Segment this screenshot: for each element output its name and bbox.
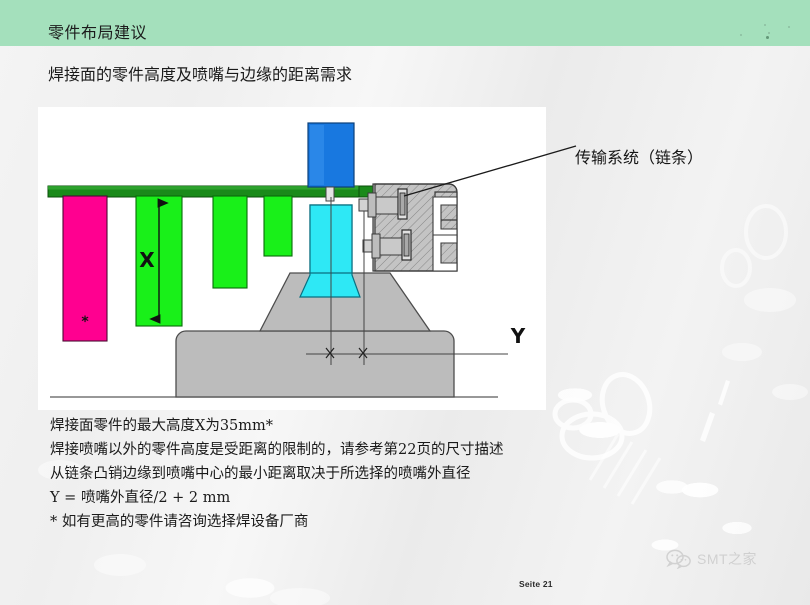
body-line-3: 从链条凸销边缘到喷嘴中心的最小距离取决于所选择的喷嘴外直径 [50, 462, 690, 486]
header-dot-artifacts [736, 12, 796, 38]
callout-label-conveyor: 传输系统（链条） [575, 144, 703, 168]
asterisk-mark: * [81, 314, 89, 330]
body-line-5: * 如有更高的零件请咨询选择焊设备厂商 [50, 510, 690, 534]
component-green-3 [264, 196, 292, 256]
body-line-2: 焊接喷嘴以外的零件高度是受距离的限制的，请参考第22页的尺寸描述 [50, 438, 690, 462]
body-line-1: 焊接面零件的最大高度X为35mm* [50, 414, 690, 438]
callout-leader-line [400, 140, 600, 210]
dimension-y-label: Y [510, 324, 526, 348]
wechat-icon [666, 549, 692, 569]
slide-subtitle: 焊接面的零件高度及喷嘴与边缘的距离需求 [48, 61, 352, 85]
body-line-4: Y = 喷嘴外直径/2 + 2 mm [50, 486, 690, 510]
dimension-x-label: X [139, 248, 155, 272]
page-title: 零件布局建议 [48, 19, 147, 43]
wechat-watermark: SMT之家 [666, 549, 757, 569]
machine-base [176, 331, 454, 397]
blue-component-highlight [310, 125, 324, 185]
watermark-text: SMT之家 [697, 549, 757, 569]
component-green-2 [213, 196, 247, 288]
slide-canvas: 零件布局建议 焊接面的零件高度及喷嘴与边缘的距离需求 [0, 0, 810, 605]
footer-page-number: Seite 21 [519, 579, 553, 589]
body-text-block: 焊接面零件的最大高度X为35mm* 焊接喷嘴以外的零件高度是受距离的限制的，请参… [50, 414, 690, 534]
blue-component-lead [326, 187, 334, 201]
